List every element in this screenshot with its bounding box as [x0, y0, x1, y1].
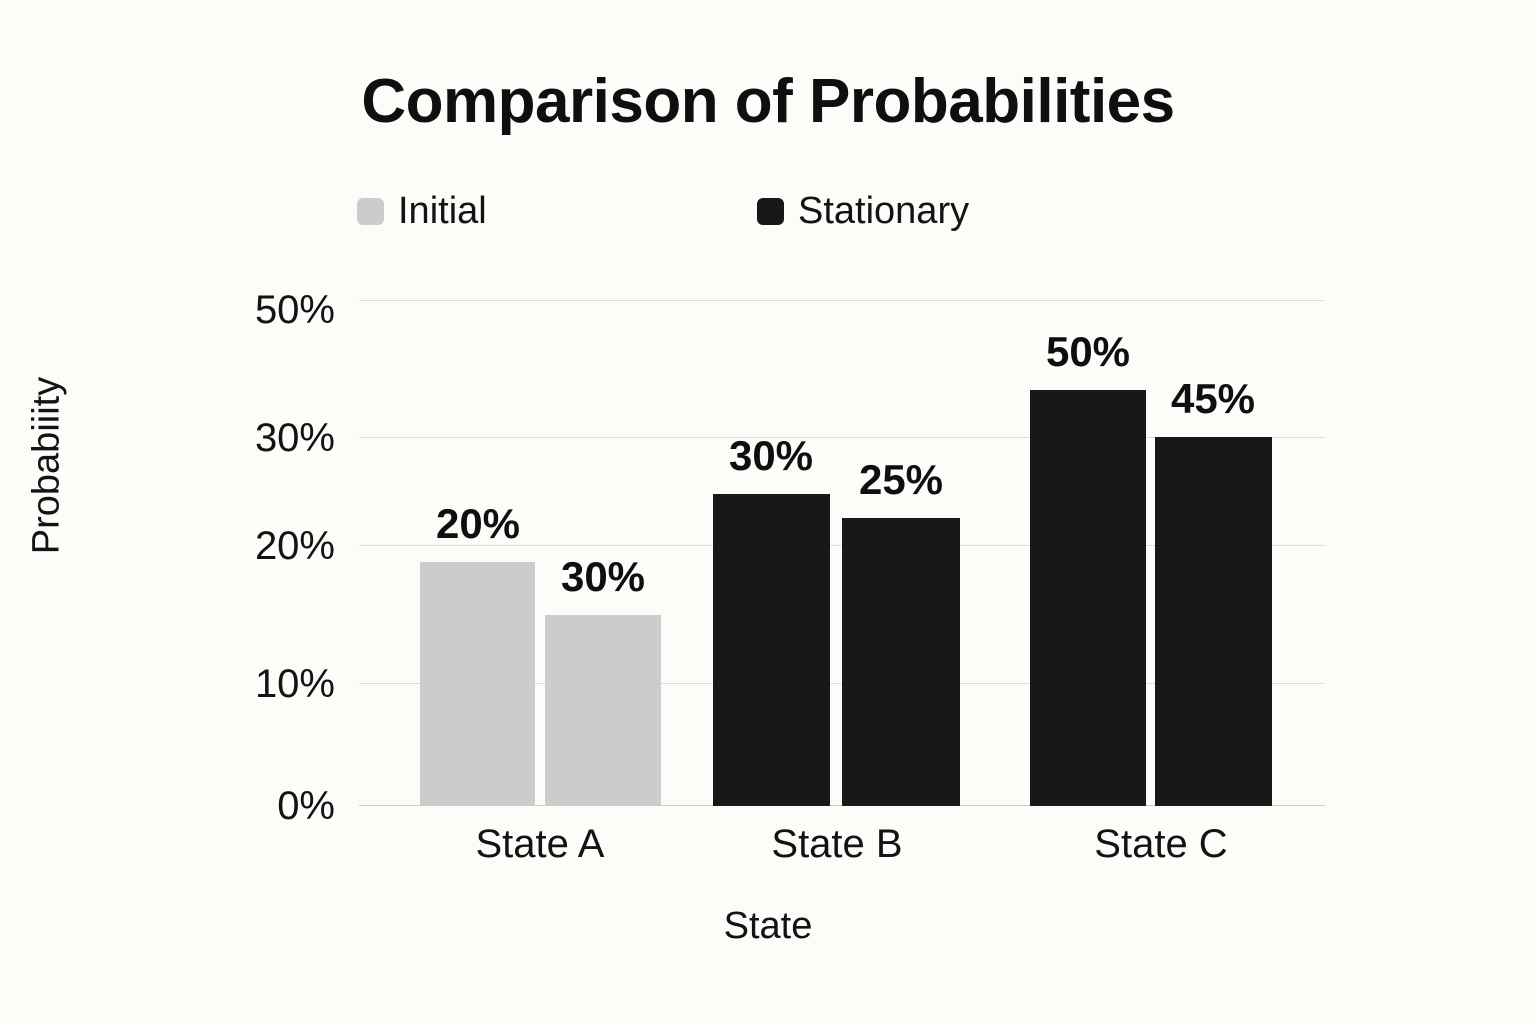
legend-item-initial[interactable]: Initial: [357, 192, 757, 230]
legend-label-initial: Initial: [398, 192, 487, 230]
x-axis-title: State: [0, 905, 1536, 948]
bar-state-a-initial[interactable]: [420, 562, 535, 806]
x-tick-label-state-a: State A: [380, 822, 700, 867]
bar-label-state-c-initial: 50%: [1008, 328, 1168, 376]
legend-swatch-initial: [357, 198, 384, 225]
chart-title: Comparison of Probabilities: [0, 66, 1536, 137]
bar-label-state-a-stationary: 30%: [523, 553, 683, 601]
bar-state-a-stationary[interactable]: [545, 615, 661, 806]
chart-legend: Initial Stationary: [357, 192, 969, 230]
y-tick-label-0: 0%: [185, 784, 335, 829]
y-tick-label-10: 10%: [185, 662, 335, 707]
bar-state-c-initial[interactable]: [1030, 390, 1146, 806]
legend-swatch-stationary: [757, 198, 784, 225]
gridline-50: [359, 300, 1325, 301]
bar-state-c-stationary[interactable]: [1155, 437, 1272, 806]
chart-figure: Comparison of Probabilities Initial Stat…: [0, 0, 1536, 1024]
legend-item-stationary[interactable]: Stationary: [757, 192, 969, 230]
x-tick-label-state-b: State B: [677, 822, 997, 867]
bar-state-b-initial[interactable]: [713, 494, 830, 806]
bar-label-state-a-initial: 20%: [398, 500, 558, 548]
y-tick-label-20: 20%: [185, 524, 335, 569]
bar-state-b-stationary[interactable]: [842, 518, 960, 806]
bar-label-state-c-stationary: 45%: [1133, 375, 1293, 423]
legend-label-stationary: Stationary: [798, 192, 969, 230]
y-axis-title: Probabiiity: [26, 336, 69, 596]
bar-label-state-b-stationary: 25%: [821, 456, 981, 504]
y-tick-label-30: 30%: [185, 416, 335, 461]
y-tick-label-50: 50%: [185, 288, 335, 333]
x-tick-label-state-c: State C: [1001, 822, 1321, 867]
